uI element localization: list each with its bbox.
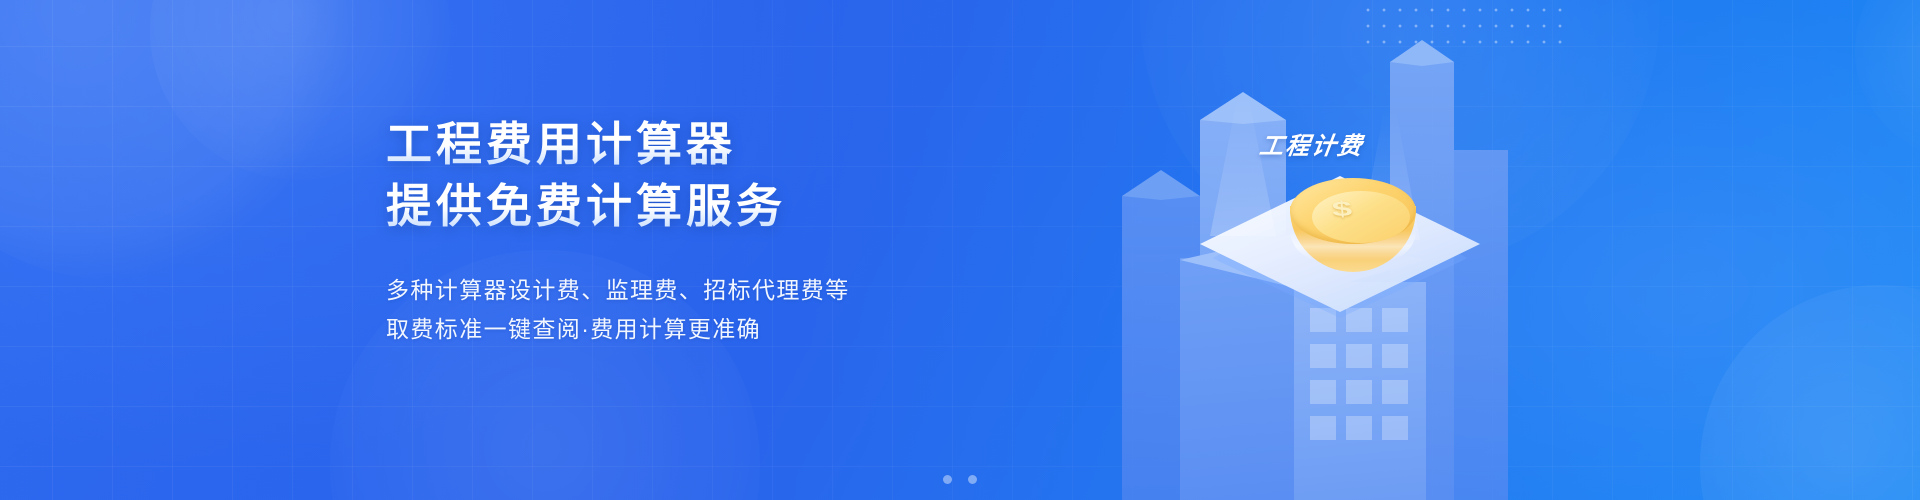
- window-cell: [1382, 416, 1408, 440]
- hero-banner: 工程费用计算器 提供免费计算服务 多种计算器设计费、监理费、招标代理费等 取费标…: [0, 0, 1920, 500]
- window-cell: [1310, 416, 1336, 440]
- carousel-dot-1[interactable]: [943, 475, 952, 484]
- illustration-label: 工程计费: [1258, 126, 1367, 161]
- subtitle-line-1: 多种计算器设计费、监理费、招标代理费等: [386, 271, 1086, 310]
- hero-illustration: $ 工程计费: [1060, 0, 1560, 500]
- window-cell: [1310, 344, 1336, 368]
- window-cell: [1346, 380, 1372, 404]
- window-cell: [1382, 308, 1408, 332]
- window-cell: [1346, 344, 1372, 368]
- building-bar-back-4: [1454, 150, 1508, 500]
- decorative-circle: [1700, 285, 1920, 500]
- coin-inner-face: [1312, 191, 1410, 243]
- window-cell: [1382, 344, 1408, 368]
- coin-top-face: [1290, 178, 1416, 244]
- window-cell: [1346, 416, 1372, 440]
- decorative-circle: [0, 0, 350, 280]
- gold-coin-icon: $: [1282, 172, 1424, 292]
- headline-line-2: 提供免费计算服务: [386, 178, 1086, 234]
- banner-copy: 工程费用计算器 提供免费计算服务 多种计算器设计费、监理费、招标代理费等 取费标…: [386, 116, 1086, 349]
- decorative-circle: [1855, 0, 1920, 160]
- dollar-sign-icon: $: [1331, 198, 1353, 219]
- carousel-dot-2[interactable]: [968, 475, 977, 484]
- tower-right-face: [1294, 282, 1426, 500]
- headline-line-1: 工程费用计算器: [386, 116, 1086, 172]
- subtitle-line-2: 取费标准一键查阅·费用计算更准确: [386, 310, 1086, 349]
- tower-left-face: [1180, 258, 1294, 500]
- window-cell: [1382, 380, 1408, 404]
- carousel-indicators[interactable]: [0, 475, 1920, 484]
- window-cell: [1310, 380, 1336, 404]
